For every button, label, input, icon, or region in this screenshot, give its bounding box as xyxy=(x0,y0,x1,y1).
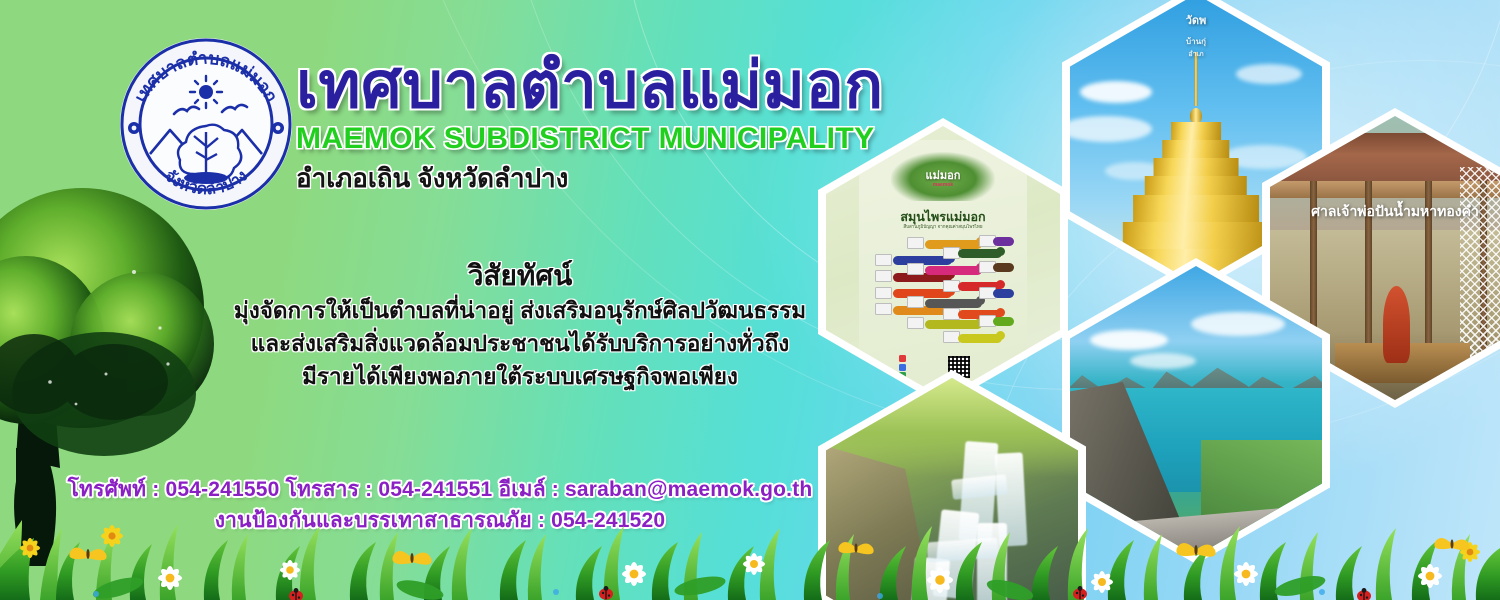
page-title-thai: เทศบาลตำบลแม่มอก xyxy=(296,50,956,120)
vision-line: และส่งเสริมสิ่งแวดล้อมประชาชนได้รับบริกา… xyxy=(170,327,870,360)
hex-photo-inner: แม่มอก maemok สมุนไพรแม่มอก สืบสานภูมิปั… xyxy=(826,126,1060,398)
product-grid xyxy=(869,235,1017,353)
shrine-idol xyxy=(1383,286,1411,363)
pagoda-overlay-line3: อำเภ xyxy=(1070,49,1322,60)
vision-line: มีรายได้เพียงพอภายใต้ระบบเศรษฐกิจพอเพียง xyxy=(170,360,870,393)
municipality-banner: เทศบาลตำบลแม่มอก จังหวัดลำปาง เทศบาลตำบล… xyxy=(0,0,1500,600)
vision-line: มุ่งจัดการให้เป็นตำบลที่น่าอยู่ ส่งเสริม… xyxy=(170,294,870,327)
shrine-mesh-fence xyxy=(1460,167,1500,371)
pagoda-overlay-line2: บ้านกุ่ xyxy=(1070,35,1322,48)
herbal-poster: แม่มอก maemok สมุนไพรแม่มอก สืบสานภูมิปั… xyxy=(859,140,1027,385)
maemok-seal: เทศบาลตำบลแม่มอก จังหวัดลำปาง xyxy=(118,36,294,212)
contact-phone-fax-email[interactable]: โทรศัพท์ : 054-241550 โทรสาร : 054-24155… xyxy=(40,474,840,505)
page-title-english: MAEMOK SUBDISTRICT MUNICIPALITY xyxy=(296,122,956,156)
grass-flowers-border xyxy=(0,508,1500,600)
vision-heading: วิสัยทัศน์ xyxy=(170,258,870,294)
poster-subtitle: สืบสานภูมิปัญญา จากคุณค่าสมุนไพรไทย xyxy=(859,223,1027,230)
poster-logo: แม่มอก maemok xyxy=(891,152,995,201)
poster-logo-subtext: maemok xyxy=(891,182,995,188)
poster-logo-text: แม่มอก xyxy=(891,166,995,184)
vision-block: วิสัยทัศน์ มุ่งจัดการให้เป็นตำบลที่น่าอย… xyxy=(170,258,870,393)
ladybug xyxy=(289,586,1371,600)
golden-chedi xyxy=(1123,52,1269,278)
shrine-caption: ศาลเจ้าพ่อปันน้ำมหาทองคำ xyxy=(1270,201,1500,223)
